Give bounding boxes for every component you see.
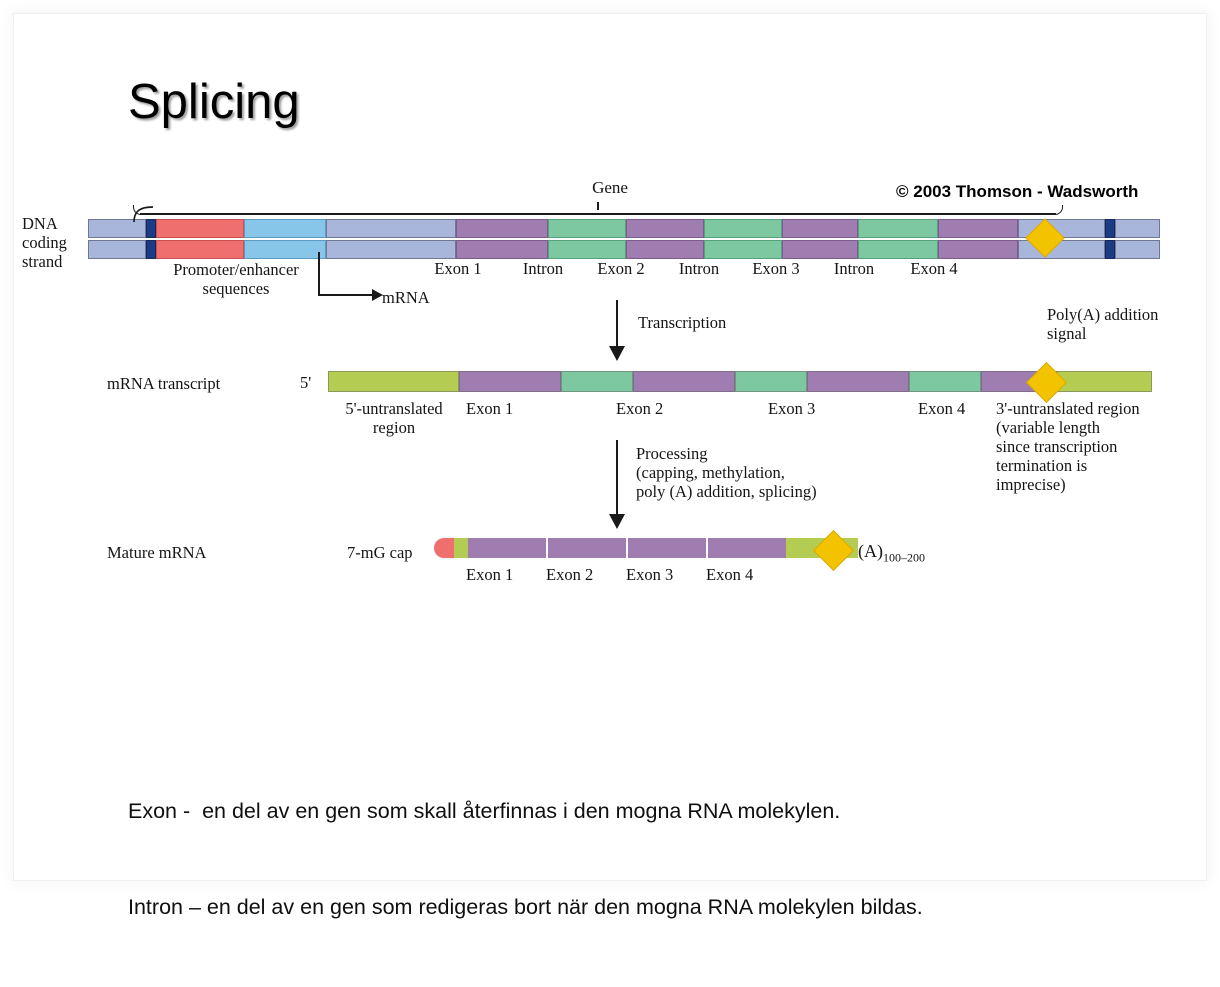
transcript-segment-5 [807, 371, 909, 392]
dna-strand-bottom [88, 240, 1160, 259]
mature-row-label: Mature mRNA [107, 543, 206, 562]
transcript-label-exon-4: Exon 4 [918, 399, 965, 418]
dna-segment-9 [782, 219, 858, 238]
gene-bracket-right-end [1053, 205, 1063, 215]
dna-label-exon-4: Exon 4 [894, 259, 974, 278]
mature-label-exon-1: Exon 1 [466, 565, 513, 584]
polya-tail-label: (A)100–200 [858, 541, 925, 566]
gene-bracket-tick [597, 202, 599, 210]
dna-segment-2 [156, 219, 244, 238]
dna-label-intron-3: Intron [814, 259, 894, 278]
polya-tail-subscript: 100–200 [883, 551, 925, 565]
dna-segment-1 [146, 240, 156, 259]
dna-segment-6 [548, 240, 626, 259]
utr3-label: 3'-untranslated region (variable length … [996, 399, 1140, 494]
dna-label-exon-2: Exon 2 [582, 259, 660, 278]
promoter-pointer-icon [131, 206, 155, 222]
dna-segment-9 [782, 240, 858, 259]
mature-segment-3 [548, 538, 626, 558]
note-intron: Intron – en del av en gen som redigeras … [128, 891, 923, 923]
gene-bracket [133, 200, 1063, 216]
transcript-segment-1 [459, 371, 561, 392]
transcript-segment-8 [1057, 371, 1152, 392]
dna-segment-14 [1115, 219, 1160, 238]
dna-strand-top [88, 219, 1160, 238]
five-prime-label: 5' [300, 373, 311, 392]
cap-label: 7-mG cap [347, 543, 413, 562]
dna-segment-11 [938, 219, 1018, 238]
mature-label-exon-4: Exon 4 [706, 565, 753, 584]
dna-segment-5 [456, 219, 548, 238]
transcript-segment-2 [561, 371, 633, 392]
transcript-segment-3 [633, 371, 735, 392]
dna-label-intron-1: Intron [504, 259, 582, 278]
gene-bracket-bar [140, 213, 1056, 215]
dna-segment-3 [244, 219, 326, 238]
dna-segment-10 [858, 240, 938, 259]
note-exon: Exon - en del av en gen som skall återfi… [128, 795, 923, 827]
dna-label-intron-2: Intron [660, 259, 738, 278]
mature-label-exon-3: Exon 3 [626, 565, 673, 584]
polya-signal-diamond-mature [813, 530, 854, 571]
transcription-label: Transcription [638, 313, 726, 332]
gene-label: Gene [0, 178, 1220, 198]
processing-arrow [608, 440, 626, 530]
mature-mrna-bar [434, 538, 858, 558]
dna-segment-10 [858, 219, 938, 238]
polya-tail-text: (A) [858, 541, 883, 561]
transcript-segment-6 [909, 371, 981, 392]
dna-label-exon-3: Exon 3 [738, 259, 814, 278]
dna-segment-13 [1105, 219, 1115, 238]
dna-segment-11 [938, 240, 1018, 259]
mature-segment-5 [708, 538, 786, 558]
dna-segment-8 [704, 240, 782, 259]
dna-row-label: DNA coding strand [22, 214, 67, 271]
dna-segment-7 [626, 240, 704, 259]
dna-segment-2 [156, 240, 244, 259]
dna-segment-7 [626, 219, 704, 238]
polya-signal-diamond-transcript [1026, 362, 1067, 403]
mature-segment-4 [628, 538, 706, 558]
transcription-arrow [608, 300, 626, 362]
dna-segment-5 [456, 240, 548, 259]
mature-label-exon-2: Exon 2 [546, 565, 593, 584]
processing-label: Processing (capping, methylation, poly (… [636, 444, 817, 501]
polya-signal-label: Poly(A) addition signal [1047, 305, 1158, 343]
mature-segment-0 [434, 538, 454, 558]
transcript-label-exon-3: Exon 3 [768, 399, 815, 418]
dna-segment-3 [244, 240, 326, 259]
mature-segment-2 [468, 538, 546, 558]
transcript-segment-4 [735, 371, 807, 392]
dna-segment-0 [88, 240, 146, 259]
utr5-label: 5'-untranslated region [320, 399, 468, 437]
dna-segment-14 [1115, 240, 1160, 259]
slide: Splicing © 2003 Thomson - Wadsworth Gene… [0, 0, 1220, 894]
transcript-row-label: mRNA transcript [107, 374, 220, 393]
transcript-segment-0 [328, 371, 459, 392]
transcript-label-exon-1: Exon 1 [466, 399, 513, 418]
mature-segment-1 [454, 538, 468, 558]
transcript-label-exon-2: Exon 2 [616, 399, 663, 418]
dna-segment-6 [548, 219, 626, 238]
mrna-start-label: mRNA [382, 288, 430, 307]
dna-segment-4 [326, 219, 456, 238]
promoter-enhancer-label: Promoter/enhancer sequences [148, 260, 324, 298]
dna-segment-8 [704, 219, 782, 238]
dna-segment-13 [1105, 240, 1115, 259]
definition-notes: Exon - en del av en gen som skall återfi… [128, 731, 923, 987]
